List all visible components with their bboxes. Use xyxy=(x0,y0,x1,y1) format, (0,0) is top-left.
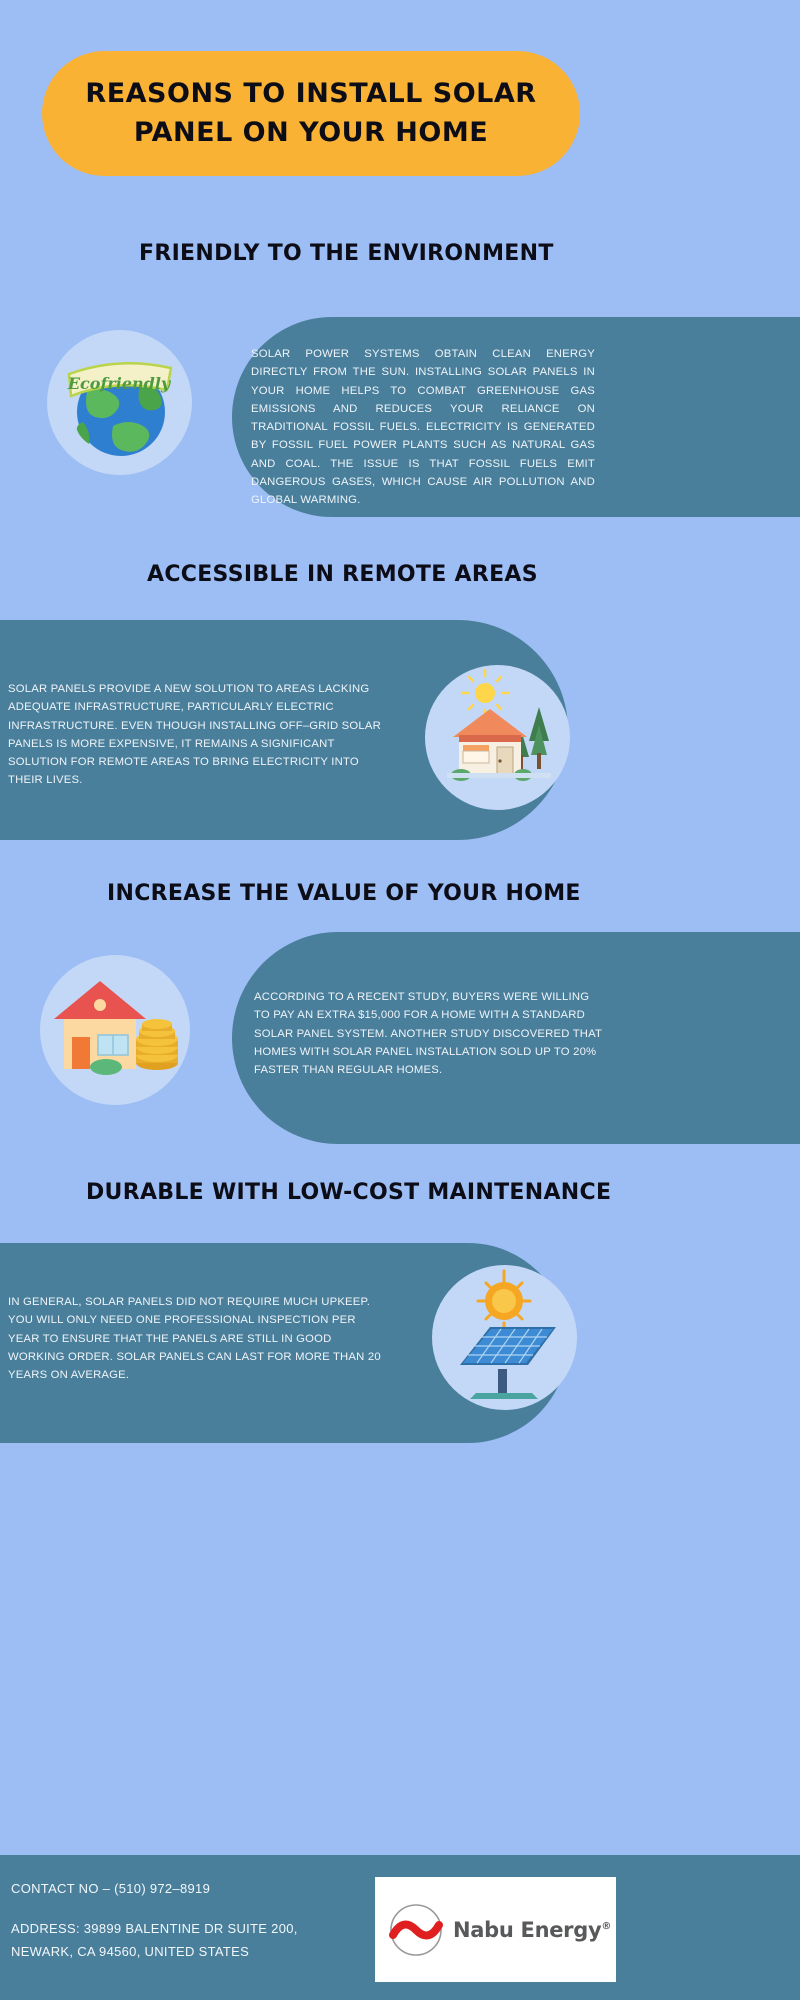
logo-name: Nabu Energy xyxy=(453,1918,601,1942)
section-body-value: ACCORDING TO A RECENT STUDY, BUYERS WERE… xyxy=(254,988,606,1079)
logo-wordmark: Nabu Energy® xyxy=(453,1918,611,1942)
section-heading-environment: FRIENDLY TO THE ENVIRONMENT xyxy=(139,241,554,266)
eco-friendly-label: Ecofriendly xyxy=(67,374,172,393)
footer-contact: CONTACT NO – (510) 972–8919 xyxy=(11,1881,210,1896)
eco-friendly-globe-icon: Ecofriendly xyxy=(47,330,192,475)
section-heading-durable: DURABLE WITH LOW-COST MAINTENANCE xyxy=(86,1180,611,1205)
section-body-durable: IN GENERAL, SOLAR PANELS DID NOT REQUIRE… xyxy=(8,1293,388,1384)
remote-house-sun-icon xyxy=(425,665,570,810)
page-title: REASONS TO INSTALL SOLAR PANEL ON YOUR H… xyxy=(82,75,540,152)
section-heading-value: INCREASE THE VALUE OF YOUR HOME xyxy=(107,881,581,906)
title-banner: REASONS TO INSTALL SOLAR PANEL ON YOUR H… xyxy=(42,51,580,176)
company-logo: Nabu Energy® xyxy=(375,1877,616,1982)
section-body-remote: SOLAR PANELS PROVIDE A NEW SOLUTION TO A… xyxy=(8,680,392,790)
section-body-environment: SOLAR POWER SYSTEMS OBTAIN CLEAN ENERGY … xyxy=(251,345,595,510)
section-heading-remote: ACCESSIBLE IN REMOTE AREAS xyxy=(147,562,538,587)
infographic-page: REASONS TO INSTALL SOLAR PANEL ON YOUR H… xyxy=(0,0,800,2000)
logo-registered-mark: ® xyxy=(601,1921,611,1932)
footer-address: ADDRESS: 39899 BALENTINE DR SUITE 200, N… xyxy=(11,1918,351,1964)
house-with-coins-icon xyxy=(40,955,190,1105)
nabu-energy-mark-icon xyxy=(385,1899,447,1961)
solar-panel-sun-icon xyxy=(432,1265,577,1410)
